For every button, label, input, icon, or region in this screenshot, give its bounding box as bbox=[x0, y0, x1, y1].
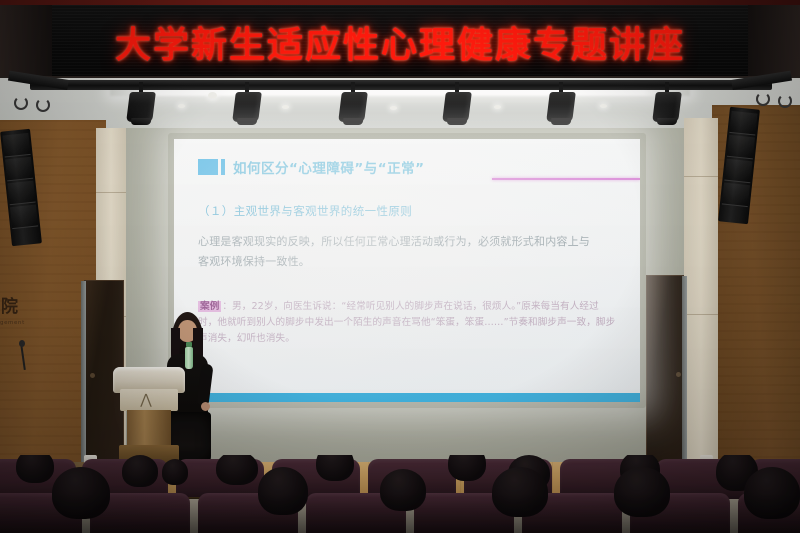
ceiling-downlight bbox=[390, 106, 397, 110]
stage-spotlight bbox=[444, 88, 470, 126]
slide-case-text: ：男，22岁，向医生诉说：“经常听见别人的脚步声在说话，很烦人。”原来每当有人经… bbox=[198, 301, 615, 345]
water-bottle bbox=[185, 347, 193, 369]
microphone-icon bbox=[19, 340, 25, 347]
audience-head bbox=[16, 455, 54, 483]
wall-pilaster-right bbox=[684, 118, 718, 470]
wall-signage: 学院 management bbox=[0, 292, 68, 338]
truss-hook bbox=[756, 92, 770, 106]
slide-case-block: 案例：男，22岁，向医生诉说：“经常听见别人的脚步声在说话，很烦人。”原来每当有… bbox=[198, 299, 616, 348]
slide-title: 如何区分“心理障碍”与“正常” bbox=[233, 157, 425, 177]
stage-spotlight bbox=[654, 88, 680, 126]
ceiling-downlight bbox=[494, 105, 501, 109]
slide-accent-line bbox=[492, 178, 640, 180]
truss-hook bbox=[778, 94, 792, 108]
projection-screen: 如何区分“心理障碍”与“正常” （１）主观世界与客观世界的统一性原则 心理是客观… bbox=[174, 139, 640, 402]
wall-signage-latin: management bbox=[0, 320, 68, 326]
podium-column bbox=[127, 410, 171, 446]
stage-spotlight bbox=[234, 88, 260, 126]
stage-spotlight bbox=[128, 88, 154, 126]
ceiling-sensor bbox=[208, 92, 217, 99]
audience-head bbox=[216, 455, 258, 485]
led-banner: 大学新生适应性心理健康专题讲座 bbox=[0, 0, 800, 78]
led-banner-edge-right bbox=[748, 5, 800, 78]
slide-title-row: 如何区分“心理障碍”与“正常” bbox=[198, 157, 616, 177]
truss-hook bbox=[36, 98, 50, 112]
water-bottle-cap bbox=[186, 342, 192, 347]
podium: ⋀ bbox=[113, 367, 185, 465]
slide-body-line-1: 心理是客观现实的反映，所以任何正常心理活动或行为，必须就形式和内容上与 bbox=[198, 232, 610, 252]
audience-area bbox=[0, 455, 800, 533]
audience-head bbox=[162, 459, 188, 485]
slide-body-line-2: 客观环境保持一致性。 bbox=[198, 252, 610, 272]
led-banner-screen: 大学新生适应性心理健康专题讲座 bbox=[0, 5, 800, 78]
ceiling-downlight bbox=[178, 104, 185, 108]
podium-emblem-icon: ⋀ bbox=[137, 391, 155, 407]
slide-subtitle: （１）主观世界与客观世界的统一性原则 bbox=[198, 203, 616, 219]
presentation-slide: 如何区分“心理障碍”与“正常” （１）主观世界与客观世界的统一性原则 心理是客观… bbox=[174, 139, 640, 402]
stage-spotlight bbox=[548, 88, 574, 126]
ceiling-downlight bbox=[282, 105, 289, 109]
stage-spotlight bbox=[340, 88, 366, 126]
stage-door-right[interactable] bbox=[646, 275, 684, 465]
lecture-hall-photo: 学院 management 大学新生适应性心理健康专题讲座 bbox=[0, 0, 800, 533]
audience-head bbox=[448, 455, 486, 481]
slide-case-tag: 案例 bbox=[198, 301, 221, 312]
audience-shadow bbox=[0, 493, 800, 533]
ceiling-downlight bbox=[600, 104, 607, 108]
slide-body-text: 心理是客观现实的反映，所以任何正常心理活动或行为，必须就形式和内容上与 客观环境… bbox=[198, 232, 610, 273]
led-banner-edge-left bbox=[0, 5, 52, 78]
audience-head bbox=[316, 455, 354, 481]
truss-hook bbox=[14, 96, 28, 110]
audience-head bbox=[122, 455, 158, 487]
led-banner-text: 大学新生适应性心理健康专题讲座 bbox=[115, 16, 685, 68]
presenter-hand bbox=[201, 402, 210, 411]
slide-title-marker-icon bbox=[198, 159, 225, 175]
slide-bottom-bar bbox=[174, 393, 640, 402]
wall-signage-chinese: 学院 bbox=[0, 292, 68, 317]
